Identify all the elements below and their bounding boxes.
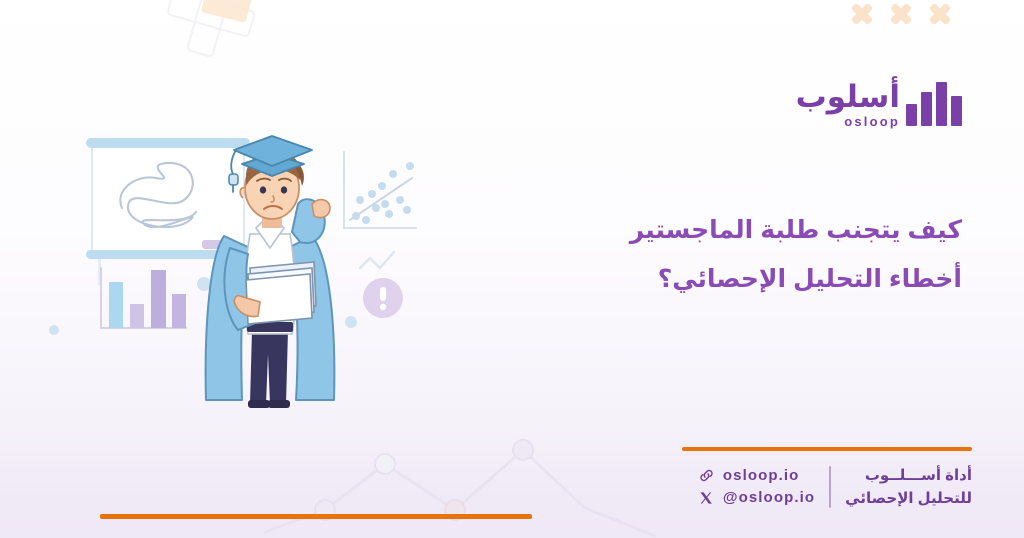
footer-tagline: أداة أســـلــوب للتحليل الإحصائي <box>845 464 972 511</box>
zigzag-decor <box>360 252 394 268</box>
footer-divider-rule <box>682 447 972 451</box>
x-twitter-icon <box>698 489 715 506</box>
x-mark-icon <box>928 2 952 26</box>
confused-graduate-student-illustration <box>44 116 504 416</box>
x-handle-link[interactable]: @osloop.io <box>698 489 815 506</box>
logo-latin-name: osloop <box>844 115 900 128</box>
link-icon <box>698 467 715 484</box>
bar-chart-panel <box>101 268 186 328</box>
osloop-logo: أسلوب osloop <box>796 78 962 128</box>
footer-tagline-line-1: أداة أســـلــوب <box>845 464 972 487</box>
footer: osloop.io @osloop.io أداة أســـلــوب للت… <box>682 447 972 511</box>
dot-decor <box>197 277 211 291</box>
ground-line <box>100 514 532 519</box>
x-mark-icon <box>850 2 874 26</box>
x-handle-label: @osloop.io <box>723 489 815 506</box>
dot-decor <box>49 325 59 335</box>
website-link[interactable]: osloop.io <box>698 467 815 484</box>
headline-line-2: أخطاء التحليل الإحصائي؟ <box>442 255 962 304</box>
orange-block-decor <box>201 0 255 23</box>
scatter-plot-panel <box>344 152 416 228</box>
dot-decor <box>345 316 357 328</box>
website-link-label: osloop.io <box>723 467 800 484</box>
plus-outline-icon <box>158 0 264 66</box>
footer-separator <box>829 466 831 508</box>
footer-links: osloop.io @osloop.io <box>698 467 815 506</box>
bar-chart-icon <box>906 78 962 126</box>
social-card: أسلوب osloop كيف يتجنب طلبة الماجستير أخ… <box>0 0 1024 538</box>
logo-arabic-name: أسلوب <box>796 81 900 112</box>
line-chart-watermark-icon <box>255 436 685 538</box>
footer-tagline-line-2: للتحليل الإحصائي <box>845 487 972 510</box>
page-title: كيف يتجنب طلبة الماجستير أخطاء التحليل ا… <box>442 206 962 304</box>
exclamation-badge <box>363 278 403 318</box>
x-mark-icon <box>889 2 913 26</box>
headline-line-1: كيف يتجنب طلبة الماجستير <box>442 206 962 255</box>
